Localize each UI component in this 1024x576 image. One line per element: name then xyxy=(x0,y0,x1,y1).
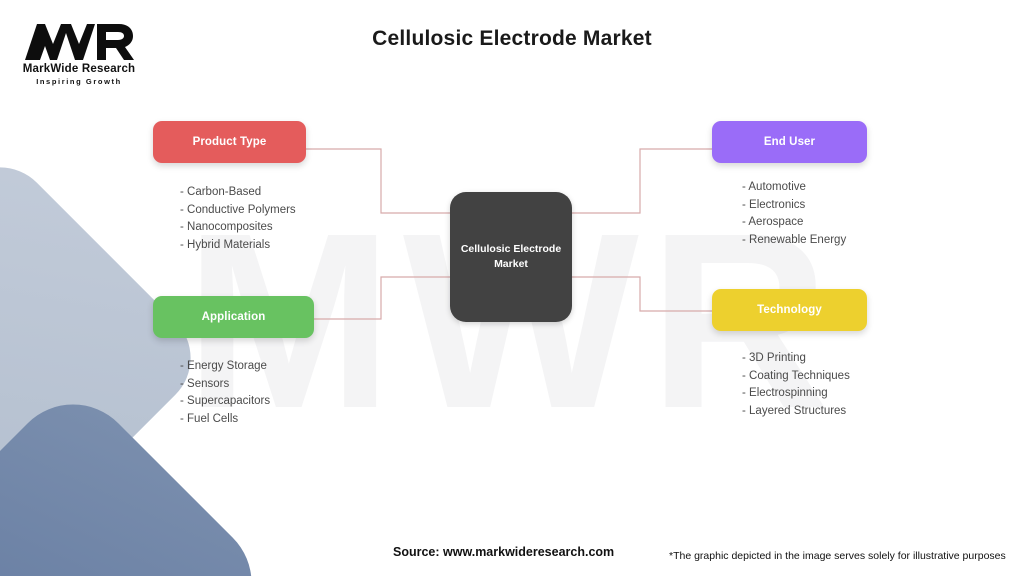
branch-items-technology: - 3D Printing - Coating Techniques - Ele… xyxy=(712,350,867,420)
center-node-label: Cellulosic Electrode Market xyxy=(450,242,572,272)
branch-label-end-user: End User xyxy=(764,136,815,148)
branch-header-technology[interactable]: Technology xyxy=(712,289,867,331)
list-item: - Electrospinning xyxy=(742,385,867,403)
branch-items-end-user: - Automotive - Electronics - Aerospace -… xyxy=(712,179,867,249)
disclaimer-text: *The graphic depicted in the image serve… xyxy=(669,550,1006,562)
branch-header-product-type[interactable]: Product Type xyxy=(153,121,306,163)
connector-product-type xyxy=(306,149,450,213)
source-text: Source: www.markwideresearch.com xyxy=(393,545,614,559)
list-item: - Supercapacitors xyxy=(180,393,314,411)
branch-items-application: - Energy Storage - Sensors - Supercapaci… xyxy=(153,358,314,428)
list-item: - Aerospace xyxy=(742,214,867,232)
connector-technology xyxy=(572,277,712,311)
list-item: - Coating Techniques xyxy=(742,368,867,386)
list-item: - Renewable Energy xyxy=(742,232,867,250)
connector-end-user xyxy=(572,149,712,213)
branch-technology: Technology - 3D Printing - Coating Techn… xyxy=(712,289,867,420)
branch-items-product-type: - Carbon-Based - Conductive Polymers - N… xyxy=(153,184,306,254)
list-item: - Fuel Cells xyxy=(180,411,314,429)
list-item: - Nanocomposites xyxy=(180,219,306,237)
branch-application: Application - Energy Storage - Sensors -… xyxy=(153,296,314,428)
branch-end-user: End User - Automotive - Electronics - Ae… xyxy=(712,121,867,249)
branch-label-product-type: Product Type xyxy=(193,136,267,148)
list-item: - Electronics xyxy=(742,197,867,215)
list-item: - Hybrid Materials xyxy=(180,237,306,255)
list-item: - Layered Structures xyxy=(742,403,867,421)
list-item: - 3D Printing xyxy=(742,350,867,368)
infographic-canvas: MWR MarkWide Research Inspiring Growth C… xyxy=(0,0,1024,576)
list-item: - Sensors xyxy=(180,376,314,394)
branch-label-application: Application xyxy=(202,311,266,323)
list-item: - Carbon-Based xyxy=(180,184,306,202)
branch-product-type: Product Type - Carbon-Based - Conductive… xyxy=(153,121,306,254)
branch-header-end-user[interactable]: End User xyxy=(712,121,867,163)
list-item: - Conductive Polymers xyxy=(180,202,306,220)
list-item: - Energy Storage xyxy=(180,358,314,376)
center-node[interactable]: Cellulosic Electrode Market xyxy=(450,192,572,322)
list-item: - Automotive xyxy=(742,179,867,197)
connector-application xyxy=(314,277,450,319)
branch-label-technology: Technology xyxy=(757,304,822,316)
branch-header-application[interactable]: Application xyxy=(153,296,314,338)
